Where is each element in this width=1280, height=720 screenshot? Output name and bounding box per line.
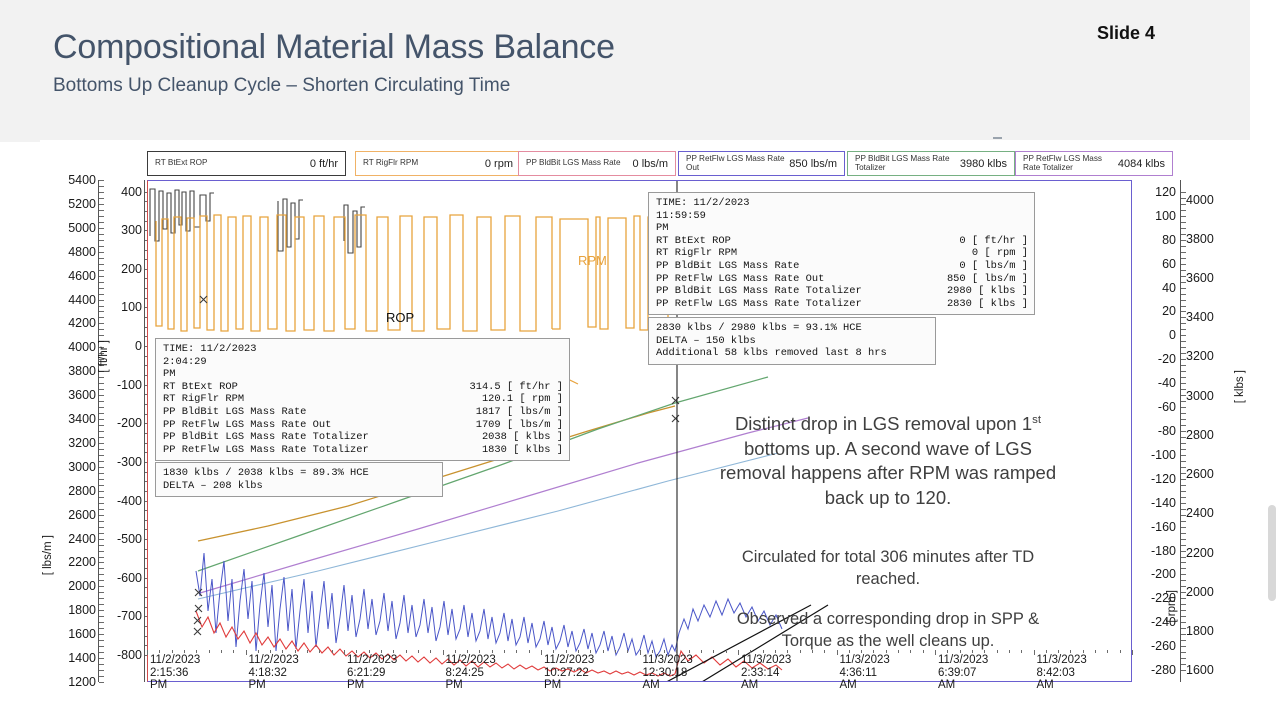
axis-fthr-left-line <box>144 180 145 682</box>
axis-tick-label: 4400 <box>68 293 96 307</box>
axis-tick-label: 2000 <box>68 579 96 593</box>
tooltip-row-key: PP BldBit LGS Mass Rate Totalizer <box>656 285 872 298</box>
axis-tick-label: 2600 <box>68 508 96 522</box>
readout-pp-bldbit-lgs-mass-rate-totalizer[interactable]: PP BldBit LGS Mass Rate Totalizer 3980 k… <box>847 151 1015 176</box>
x-tick-time: 4:18:32 <box>249 667 299 680</box>
axis-tick-label: 4000 <box>68 340 96 354</box>
axis-tick-label: 2400 <box>1186 506 1214 520</box>
x-tick-date: 11/3/2023 <box>938 654 988 667</box>
axis-tick-label: 5200 <box>68 197 96 211</box>
callout-3-line-2: Torque as the well cleans up. <box>672 630 1104 652</box>
x-tick-date: 11/3/2023 <box>741 654 791 667</box>
x-tick-time: 8:24:25 <box>446 667 496 680</box>
axis-tick-label: 3000 <box>1186 389 1214 403</box>
tooltip-row-value: 120.1 [ rpm ] <box>482 393 563 406</box>
series-label-rpm: RPM <box>578 253 607 268</box>
readout-label: RT BtExt ROP <box>155 159 207 168</box>
x-axis-minor-tick <box>221 650 222 653</box>
axis-tick-label: -700 <box>117 609 142 623</box>
tooltip-row-key: PP RetFlw LGS Mass Rate Out <box>163 419 341 432</box>
tooltip-top-row: PP BldBit LGS Mass Rate0 [ lbs/m ] <box>656 260 1028 273</box>
x-tick-meridiem: PM <box>150 679 200 692</box>
x-axis-minor-tick <box>566 650 567 653</box>
page-subtitle: Bottoms Up Cleanup Cycle – Shorten Circu… <box>53 75 510 97</box>
readout-value: 0 ft/hr <box>310 158 338 170</box>
tooltip-bottom-row: RT RigFlr RPM120.1 [ rpm ] <box>163 393 563 406</box>
axis-tick-label: 5400 <box>68 173 96 187</box>
x-axis-minor-tick <box>332 650 333 653</box>
x-tick-date: 11/3/2023 <box>643 654 693 667</box>
x-axis-minor-tick <box>196 650 197 653</box>
readout-strip: RT BtExt ROP 0 ft/hr RT RigFlr RPM 0 rpm… <box>147 151 1172 177</box>
axis-tick-label: 3800 <box>1186 232 1214 246</box>
tooltip-row-value: 314.5 [ ft/hr ] <box>469 381 563 394</box>
axis-lbsm-left: 5400520050004800460044004200400038003600… <box>48 180 96 682</box>
axis-tick-label: 4800 <box>68 245 96 259</box>
summary-top-line-2: DELTA – 150 klbs <box>656 335 929 348</box>
tooltip-top-row: RT BtExt ROP0 [ ft/hr ] <box>656 235 1028 248</box>
x-axis-minor-tick <box>159 650 160 653</box>
tooltip-row-key: PP BldBit LGS Mass Rate <box>656 260 809 273</box>
x-tick-time: 12:30:18 <box>643 667 693 680</box>
x-axis-minor-tick <box>356 650 357 653</box>
readout-label: PP BldBit LGS Mass Rate <box>526 159 621 168</box>
x-axis-minor-tick <box>492 650 493 653</box>
x-axis-minor-tick <box>270 650 271 653</box>
x-axis-minor-tick <box>430 650 431 653</box>
x-axis-tick-label: 11/3/20232:33:14AM <box>741 654 791 692</box>
axis-tick-label: 2000 <box>1186 585 1214 599</box>
x-axis-minor-tick <box>1132 650 1133 655</box>
axis-klbs-right: 4000380036003400320030002800260024002200… <box>1186 180 1234 682</box>
axis-tick-label: 4000 <box>1186 193 1214 207</box>
x-tick-date: 11/3/2023 <box>840 654 890 667</box>
x-axis-minor-tick <box>184 650 185 653</box>
summary-box-top: 2830 klbs / 2980 klbs = 93.1% HCE DELTA … <box>648 317 936 365</box>
tooltip-row-value: 0 [ ft/hr ] <box>959 235 1028 248</box>
axis-tick-label: 120 <box>1155 185 1176 199</box>
axis-tick-label: -100 <box>1151 448 1176 462</box>
readout-label: PP RetFlw LGS Mass Rate Totalizer <box>1023 155 1118 172</box>
axis-tick-label: 0 <box>1169 328 1176 342</box>
tooltip-top-row: RT RigFlr RPM0 [ rpm ] <box>656 247 1028 260</box>
x-axis-minor-tick <box>147 650 148 655</box>
callout-lgs-drop: Distinct drop in LGS removal upon 1st bo… <box>672 408 1104 510</box>
tooltip-bottom-row: RT BtExt ROP314.5 [ ft/hr ] <box>163 381 563 394</box>
x-axis-minor-tick <box>664 650 665 653</box>
axis-tick-label: 0 <box>135 339 142 353</box>
tooltip-row-key: RT RigFlr RPM <box>656 247 747 260</box>
axis-tick-label: -500 <box>117 532 142 546</box>
axis-tick-label: -160 <box>1151 520 1176 534</box>
tooltip-row-key: PP BldBit LGS Mass Rate <box>163 406 316 419</box>
callout-2-line-1: Circulated for total 306 minutes after T… <box>672 546 1104 568</box>
x-axis-minor-tick <box>295 650 296 653</box>
x-tick-date: 11/2/2023 <box>249 654 299 667</box>
x-tick-time: 4:36:11 <box>840 667 890 680</box>
x-axis-minor-tick <box>578 650 579 653</box>
x-axis-minor-tick <box>652 650 653 653</box>
summary-bottom-line-1: 1830 klbs / 2038 klbs = 89.3% HCE <box>163 467 436 480</box>
tooltip-bottom-row: PP BldBit LGS Mass Rate1817 [ lbs/m ] <box>163 406 563 419</box>
x-axis-minor-tick <box>590 650 591 653</box>
tooltip-bottom-meridiem: PM <box>163 368 563 381</box>
x-axis-minor-tick <box>603 650 604 653</box>
readout-pp-bldbit-lgs-mass-rate[interactable]: PP BldBit LGS Mass Rate 0 lbs/m <box>518 151 676 176</box>
x-axis-minor-tick <box>455 650 456 653</box>
x-axis-minor-tick <box>258 650 259 653</box>
axis-tick-label: 2200 <box>68 555 96 569</box>
tooltip-bottom-row: PP BldBit LGS Mass Rate Totalizer2038 [ … <box>163 431 563 444</box>
axis-tick-label: 3800 <box>68 364 96 378</box>
axis-tick-label: 40 <box>1162 281 1176 295</box>
axis-tick-label: -180 <box>1151 544 1176 558</box>
x-axis-minor-tick <box>615 650 616 653</box>
x-tick-meridiem: AM <box>741 679 791 692</box>
summary-box-bottom: 1830 klbs / 2038 klbs = 89.3% HCE DELTA … <box>155 462 443 497</box>
x-axis-minor-tick <box>529 650 530 653</box>
readout-value: 4084 klbs <box>1118 158 1165 170</box>
x-axis-minor-tick <box>553 650 554 653</box>
x-axis-tick-label: 11/2/20238:24:25PM <box>446 654 496 692</box>
x-tick-meridiem: AM <box>938 679 988 692</box>
axis-tick-label: -400 <box>117 494 142 508</box>
x-tick-date: 11/2/2023 <box>347 654 397 667</box>
axis-lbsm-left-unit: [ lbs/m ] <box>42 535 54 575</box>
tooltip-top-time-label: TIME: 11/2/2023 <box>656 197 1028 210</box>
x-axis-minor-tick <box>627 650 628 653</box>
x-axis-tick-label: 11/2/202310:27:22PM <box>544 654 594 692</box>
x-axis-tick-label: 11/3/20236:39:07AM <box>938 654 988 692</box>
x-axis-minor-tick <box>479 650 480 653</box>
callout-spp-torque: Observed a corresponding drop in SPP & T… <box>672 608 1104 652</box>
tooltip-top-time-value: 11:59:59 <box>656 210 1028 223</box>
x-tick-meridiem: PM <box>446 679 496 692</box>
tooltip-row-value: 1817 [ lbs/m ] <box>476 406 563 419</box>
axis-tick-label: 2400 <box>68 532 96 546</box>
axis-rpm-right-unit: [ rpm ] <box>1166 590 1178 623</box>
tooltip-bottom-row: PP RetFlw LGS Mass Rate Totalizer1830 [ … <box>163 444 563 457</box>
x-tick-date: 11/3/2023 <box>1037 654 1087 667</box>
axis-tick-label: 4200 <box>68 316 96 330</box>
axis-tick-label: 2600 <box>1186 467 1214 481</box>
x-axis-time-labels: 11/2/20232:15:36PM11/2/20234:18:32PM11/2… <box>40 650 1280 710</box>
callout-1-line-2: bottoms up. A second wave of LGS <box>672 437 1104 462</box>
x-tick-time: 10:27:22 <box>544 667 594 680</box>
x-tick-date: 11/2/2023 <box>150 654 200 667</box>
x-axis-tick-label: 11/2/20232:15:36PM <box>150 654 200 692</box>
x-tick-time: 2:15:36 <box>150 667 200 680</box>
axis-tick-label: 3600 <box>1186 271 1214 285</box>
readout-value: 0 rpm <box>485 158 513 170</box>
callout-1-line-3: removal happens after RPM was ramped <box>672 461 1104 486</box>
x-tick-time: 6:21:29 <box>347 667 397 680</box>
x-axis-tick-label: 11/3/20234:36:11AM <box>840 654 890 692</box>
header-tick-mark <box>993 137 1002 139</box>
axis-tick-label: -100 <box>117 378 142 392</box>
axis-tick-label: 5000 <box>68 221 96 235</box>
readout-value: 850 lbs/m <box>789 158 837 170</box>
axis-tick-label: 2200 <box>1186 546 1214 560</box>
x-tick-meridiem: PM <box>347 679 397 692</box>
readout-label: RT RigFlr RPM <box>363 159 418 168</box>
x-axis-minor-tick <box>319 650 320 653</box>
axis-tick-label: 300 <box>121 223 142 237</box>
tooltip-row-key: PP RetFlw LGS Mass Rate Totalizer <box>163 444 379 457</box>
axis-tick-label: 1600 <box>68 627 96 641</box>
readout-pp-retflw-lgs-mass-rate-out[interactable]: PP RetFlw LGS Mass Rate Out 850 lbs/m <box>678 151 845 176</box>
callout-1-ordinal-suffix: st <box>1032 414 1041 426</box>
x-axis-minor-tick <box>369 650 370 653</box>
tooltip-row-value: 2980 [ klbs ] <box>947 285 1028 298</box>
axis-tick-label: 3200 <box>68 436 96 450</box>
x-axis-minor-tick <box>1107 650 1108 653</box>
axis-tick-label: -60 <box>1158 400 1176 414</box>
tooltip-bottom-time-label: TIME: 11/2/2023 <box>163 343 563 356</box>
axis-tick-label: -600 <box>117 571 142 585</box>
axis-tick-label: 60 <box>1162 257 1176 271</box>
axis-tick-label: -40 <box>1158 376 1176 390</box>
axis-tick-label: 3000 <box>68 460 96 474</box>
axis-klbs-right-unit: [ klbs ] <box>1234 370 1246 403</box>
x-axis-minor-tick <box>307 650 308 653</box>
tooltip-top-row: PP BldBit LGS Mass Rate Totalizer2980 [ … <box>656 285 1028 298</box>
callout-circulation-time: Circulated for total 306 minutes after T… <box>672 546 1104 590</box>
axis-tick-label: -200 <box>1151 567 1176 581</box>
axis-tick-label: -200 <box>117 416 142 430</box>
x-axis-minor-tick <box>393 650 394 653</box>
axis-tick-label: -140 <box>1151 496 1176 510</box>
tooltip-bottom-time-value: 2:04:29 <box>163 356 563 369</box>
x-axis-minor-tick <box>504 650 505 653</box>
tooltip-top-meridiem: PM <box>656 222 1028 235</box>
axis-tick-label: 3200 <box>1186 349 1214 363</box>
axis-fthr-left: 4003002001000-100-200-300-400-500-600-70… <box>100 180 142 682</box>
x-axis-minor-tick <box>640 650 641 655</box>
x-axis-minor-tick <box>516 650 517 653</box>
tooltip-row-key: RT BtExt ROP <box>163 381 248 394</box>
tooltip-row-key: RT RigFlr RPM <box>163 393 254 406</box>
tooltip-row-key: PP RetFlw LGS Mass Rate Out <box>656 273 834 286</box>
axis-tick-label: -300 <box>117 455 142 469</box>
x-tick-meridiem: PM <box>249 679 299 692</box>
tooltip-cursor-readout-top: TIME: 11/2/2023 11:59:59 PM RT BtExt ROP… <box>648 192 1035 315</box>
tooltip-row-value: 0 [ lbs/m ] <box>959 260 1028 273</box>
x-axis-minor-tick <box>467 650 468 653</box>
tooltip-row-value: 1709 [ lbs/m ] <box>476 419 563 432</box>
summary-top-line-3: Additional 58 klbs removed last 8 hrs <box>656 347 929 360</box>
tooltip-row-value: 850 [ lbs/m ] <box>947 273 1028 286</box>
x-axis-tick-label: 11/3/202312:30:18AM <box>643 654 693 692</box>
vertical-scroll-thumb[interactable] <box>1268 505 1276 601</box>
axis-tick-label: 2800 <box>1186 428 1214 442</box>
axis-tick-label: 80 <box>1162 233 1176 247</box>
x-tick-meridiem: AM <box>840 679 890 692</box>
axis-rpm-right-line <box>1180 180 1181 682</box>
page-title: Compositional Material Mass Balance <box>53 28 615 67</box>
x-axis-minor-tick <box>541 650 542 655</box>
axis-tick-label: 200 <box>121 262 142 276</box>
readout-pp-retflw-lgs-mass-rate-totalizer[interactable]: PP RetFlw LGS Mass Rate Totalizer 4084 k… <box>1015 151 1173 176</box>
summary-top-line-1: 2830 klbs / 2980 klbs = 93.1% HCE <box>656 322 929 335</box>
x-tick-time: 2:33:14 <box>741 667 791 680</box>
axis-tick-label: 3600 <box>68 388 96 402</box>
x-axis-minor-tick <box>1120 650 1121 653</box>
x-axis-minor-tick <box>209 650 210 653</box>
x-axis-minor-tick <box>443 650 444 655</box>
slide-number-label: Slide 4 <box>1097 23 1155 44</box>
tooltip-bottom-row: PP RetFlw LGS Mass Rate Out1709 [ lbs/m … <box>163 419 563 432</box>
x-tick-meridiem: AM <box>1037 679 1087 692</box>
axis-tick-label: 3400 <box>68 412 96 426</box>
x-axis-minor-tick <box>418 650 419 653</box>
tooltip-row-key: RT BtExt ROP <box>656 235 741 248</box>
x-axis-minor-tick <box>282 650 283 653</box>
x-tick-meridiem: PM <box>544 679 594 692</box>
axis-tick-label: 100 <box>1155 209 1176 223</box>
slide-header: Compositional Material Mass Balance Bott… <box>0 0 1250 142</box>
x-axis-tick-label: 11/3/20238:42:03AM <box>1037 654 1087 692</box>
readout-rt-rigflr-rpm[interactable]: RT RigFlr RPM 0 rpm <box>355 151 521 176</box>
axis-tick-label: 1800 <box>68 603 96 617</box>
x-axis-tick-label: 11/2/20234:18:32PM <box>249 654 299 692</box>
callout-3-line-1: Observed a corresponding drop in SPP & <box>672 608 1104 630</box>
axis-tick-label: 400 <box>121 185 142 199</box>
x-axis-minor-tick <box>381 650 382 653</box>
x-axis-minor-tick <box>406 650 407 653</box>
axis-tick-label: 4600 <box>68 269 96 283</box>
x-axis-tick-label: 11/2/20236:21:29PM <box>347 654 397 692</box>
tooltip-row-value: 1830 [ klbs ] <box>482 444 563 457</box>
callout-1-line-1: Distinct drop in LGS removal upon 1 <box>735 413 1032 434</box>
axis-tick-label: 2800 <box>68 484 96 498</box>
x-axis-minor-tick <box>246 650 247 655</box>
axis-tick-label: 20 <box>1162 304 1176 318</box>
axis-tick-label: 100 <box>121 300 142 314</box>
x-tick-date: 11/2/2023 <box>544 654 594 667</box>
x-axis-minor-tick <box>172 650 173 653</box>
readout-label: PP RetFlw LGS Mass Rate Out <box>686 155 789 172</box>
readout-rt-btext-rop[interactable]: RT BtExt ROP 0 ft/hr <box>147 151 346 176</box>
axis-tick-label: -80 <box>1158 424 1176 438</box>
axis-lbsm-left-line <box>98 180 99 682</box>
tooltip-top-row: PP RetFlw LGS Mass Rate Out850 [ lbs/m ] <box>656 273 1028 286</box>
summary-bottom-line-2: DELTA – 208 klbs <box>163 480 436 493</box>
x-axis-minor-tick <box>344 650 345 655</box>
x-tick-date: 11/2/2023 <box>446 654 496 667</box>
axis-tick-label: -20 <box>1158 352 1176 366</box>
axis-tick-label: 1800 <box>1186 624 1214 638</box>
x-tick-time: 8:42:03 <box>1037 667 1087 680</box>
tooltip-row-key: PP RetFlw LGS Mass Rate Totalizer <box>656 298 872 311</box>
readout-value: 0 lbs/m <box>633 158 668 170</box>
axis-tick-label: 3400 <box>1186 310 1214 324</box>
tooltip-cursor-readout-bottom: TIME: 11/2/2023 2:04:29 PM RT BtExt ROP3… <box>155 338 570 461</box>
readout-label: PP BldBit LGS Mass Rate Totalizer <box>855 155 960 172</box>
x-axis-minor-tick <box>233 650 234 653</box>
tooltip-row-value: 2038 [ klbs ] <box>482 431 563 444</box>
axis-fthr-left-unit: [ ft/hr ] <box>98 340 110 373</box>
axis-tick-label: -120 <box>1151 472 1176 486</box>
tooltip-row-key: PP BldBit LGS Mass Rate Totalizer <box>163 431 379 444</box>
x-tick-time: 6:39:07 <box>938 667 988 680</box>
series-label-rop: ROP <box>386 310 414 325</box>
tooltip-row-value: 2830 [ klbs ] <box>947 298 1028 311</box>
x-tick-meridiem: AM <box>643 679 693 692</box>
tooltip-row-value: 0 [ rpm ] <box>972 247 1028 260</box>
tooltip-top-row: PP RetFlw LGS Mass Rate Totalizer2830 [ … <box>656 298 1028 311</box>
callout-1-line-4: back up to 120. <box>672 486 1104 511</box>
readout-value: 3980 klbs <box>960 158 1007 170</box>
callout-2-line-2: reached. <box>672 568 1104 590</box>
